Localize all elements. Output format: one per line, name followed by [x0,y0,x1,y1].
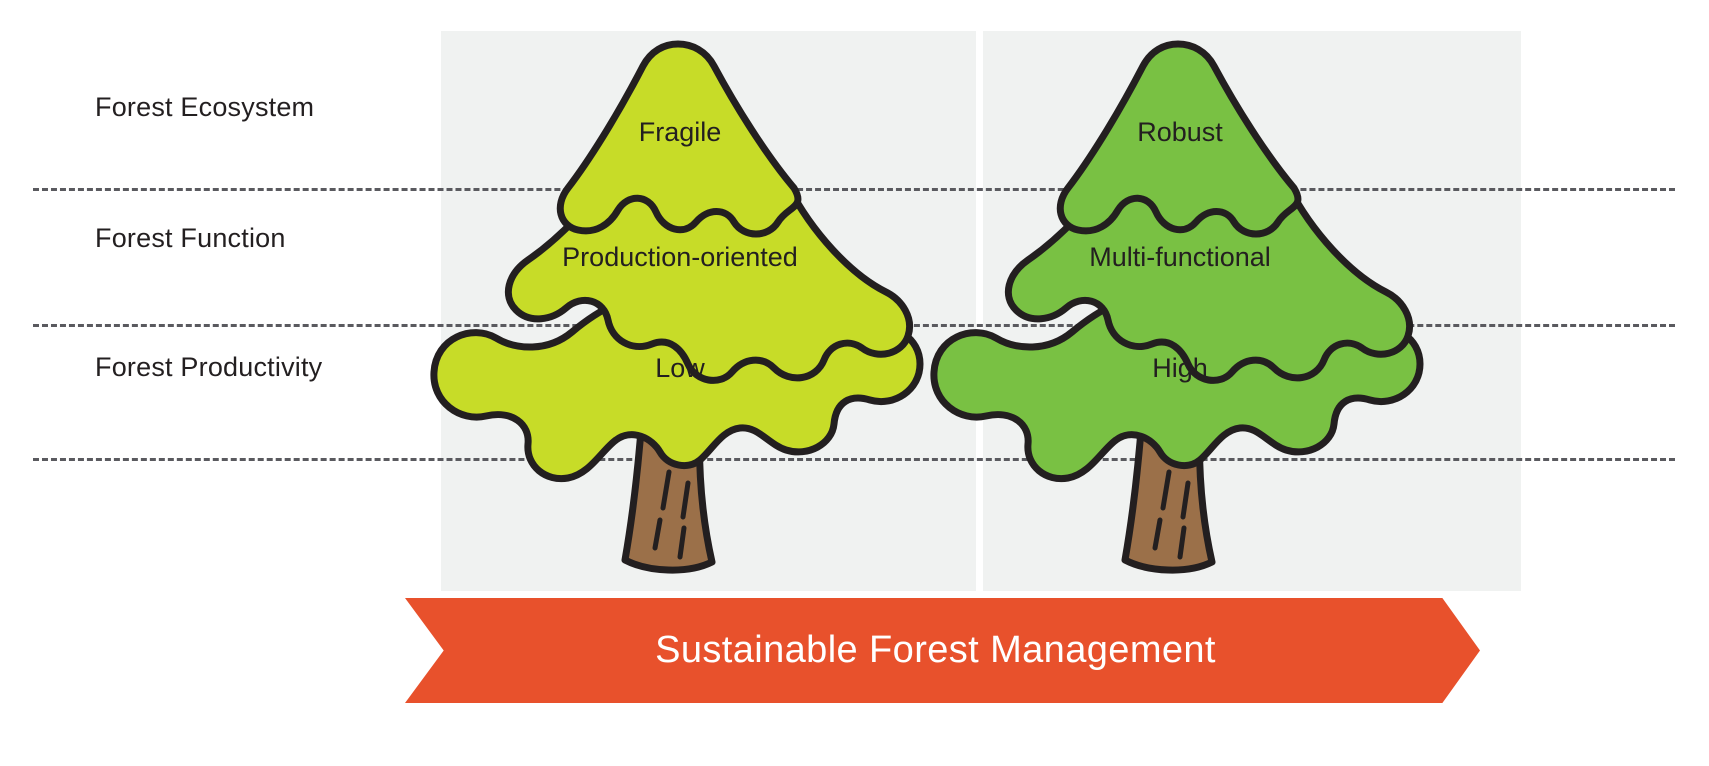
tree-right-graphic [934,44,1420,570]
tree-left-column: Fragile Production-oriented Low [420,20,940,580]
tree-tier-ecosystem [1060,44,1298,234]
row-label-forest-ecosystem: Forest Ecosystem [95,92,314,123]
tree-left-graphic [434,44,920,570]
banner-label: Sustainable Forest Management [405,598,1480,703]
sustainable-forest-management-banner: Sustainable Forest Management [405,598,1480,703]
row-label-forest-function: Forest Function [95,223,286,254]
tree-right-column: Robust Multi-functional High [920,20,1440,580]
diagram-canvas: Forest Ecosystem Forest Function Forest … [0,0,1709,766]
row-label-forest-productivity: Forest Productivity [95,352,322,383]
tree-tier-ecosystem [560,44,798,234]
